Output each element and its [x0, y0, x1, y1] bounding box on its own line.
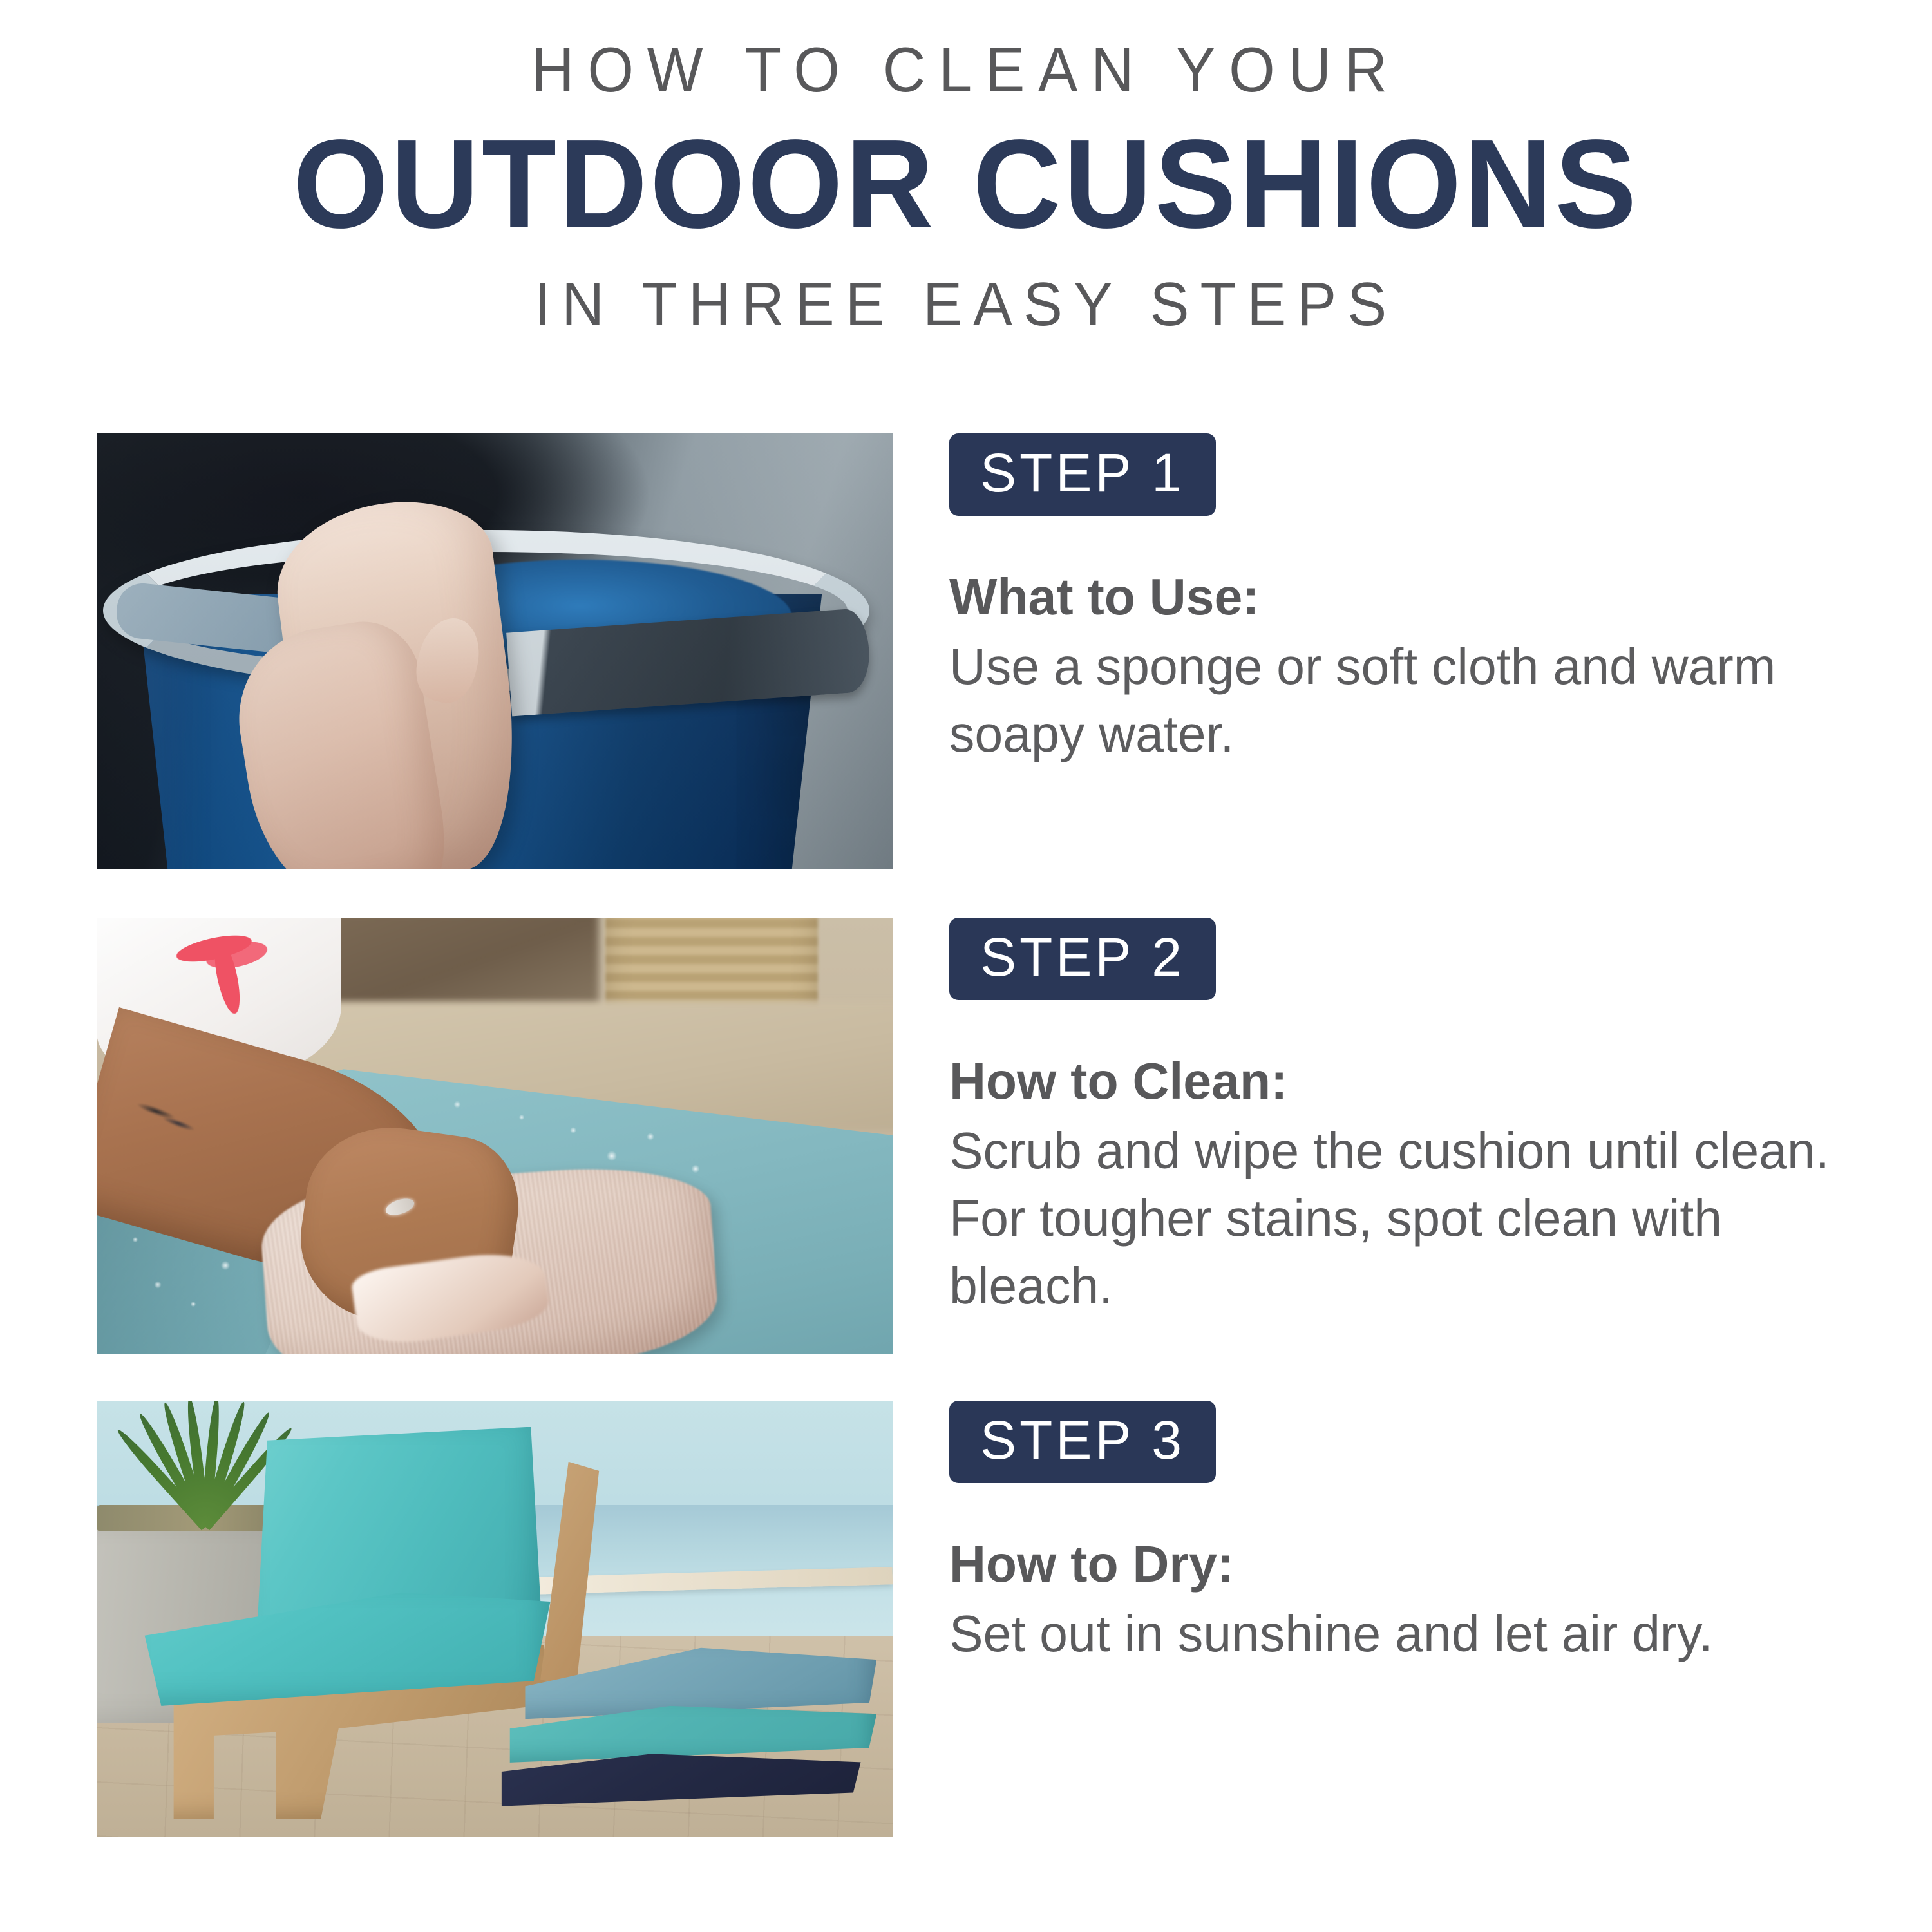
- step-2-heading: How to Clean:: [949, 1053, 1837, 1110]
- header-kicker: HOW TO CLEAN YOUR: [58, 35, 1874, 106]
- step-1-badge: STEP 1: [949, 433, 1216, 516]
- step-3-body: Set out in sunshine and let air dry.: [949, 1600, 1837, 1668]
- header-subkicker: IN THREE EASY STEPS: [48, 270, 1884, 339]
- step-1-text-column: STEP 1 What to Use: Use a sponge or soft…: [949, 433, 1851, 768]
- step-2-badge: STEP 2: [949, 918, 1216, 1000]
- step-2-body: Scrub and wipe the cushion until clean. …: [949, 1117, 1837, 1320]
- step-1-body: Use a sponge or soft cloth and warm soap…: [949, 633, 1837, 768]
- infographic-header: HOW TO CLEAN YOUR OUTDOOR CUSHIONS IN TH…: [0, 0, 1932, 339]
- step-2-photo: [97, 918, 893, 1354]
- step-3-text-column: STEP 3 How to Dry: Set out in sunshine a…: [949, 1401, 1851, 1668]
- step-2-text-column: STEP 2 How to Clean: Scrub and wipe the …: [949, 918, 1851, 1320]
- step-1-heading: What to Use:: [949, 569, 1837, 625]
- page-title: OUTDOOR CUSHIONS: [29, 115, 1903, 254]
- step-3-badge: STEP 3: [949, 1401, 1216, 1483]
- step-1-photo: [97, 433, 893, 869]
- photo-vignette: [97, 433, 893, 869]
- step-3-heading: How to Dry:: [949, 1536, 1837, 1593]
- step-3-photo: [97, 1401, 893, 1837]
